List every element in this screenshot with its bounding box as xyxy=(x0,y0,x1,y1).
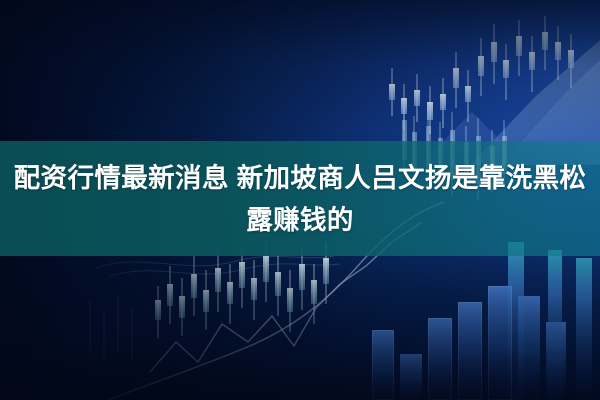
headline-line-2: 露赚钱的 xyxy=(246,199,354,241)
headline-line-1: 配资行情最新消息 新加坡商人吕文扬是靠洗黑松 xyxy=(14,157,587,199)
promo-banner-image: 配资行情最新消息 新加坡商人吕文扬是靠洗黑松 露赚钱的 xyxy=(0,0,600,400)
headline-text: 配资行情最新消息 新加坡商人吕文扬是靠洗黑松 露赚钱的 xyxy=(0,141,600,256)
